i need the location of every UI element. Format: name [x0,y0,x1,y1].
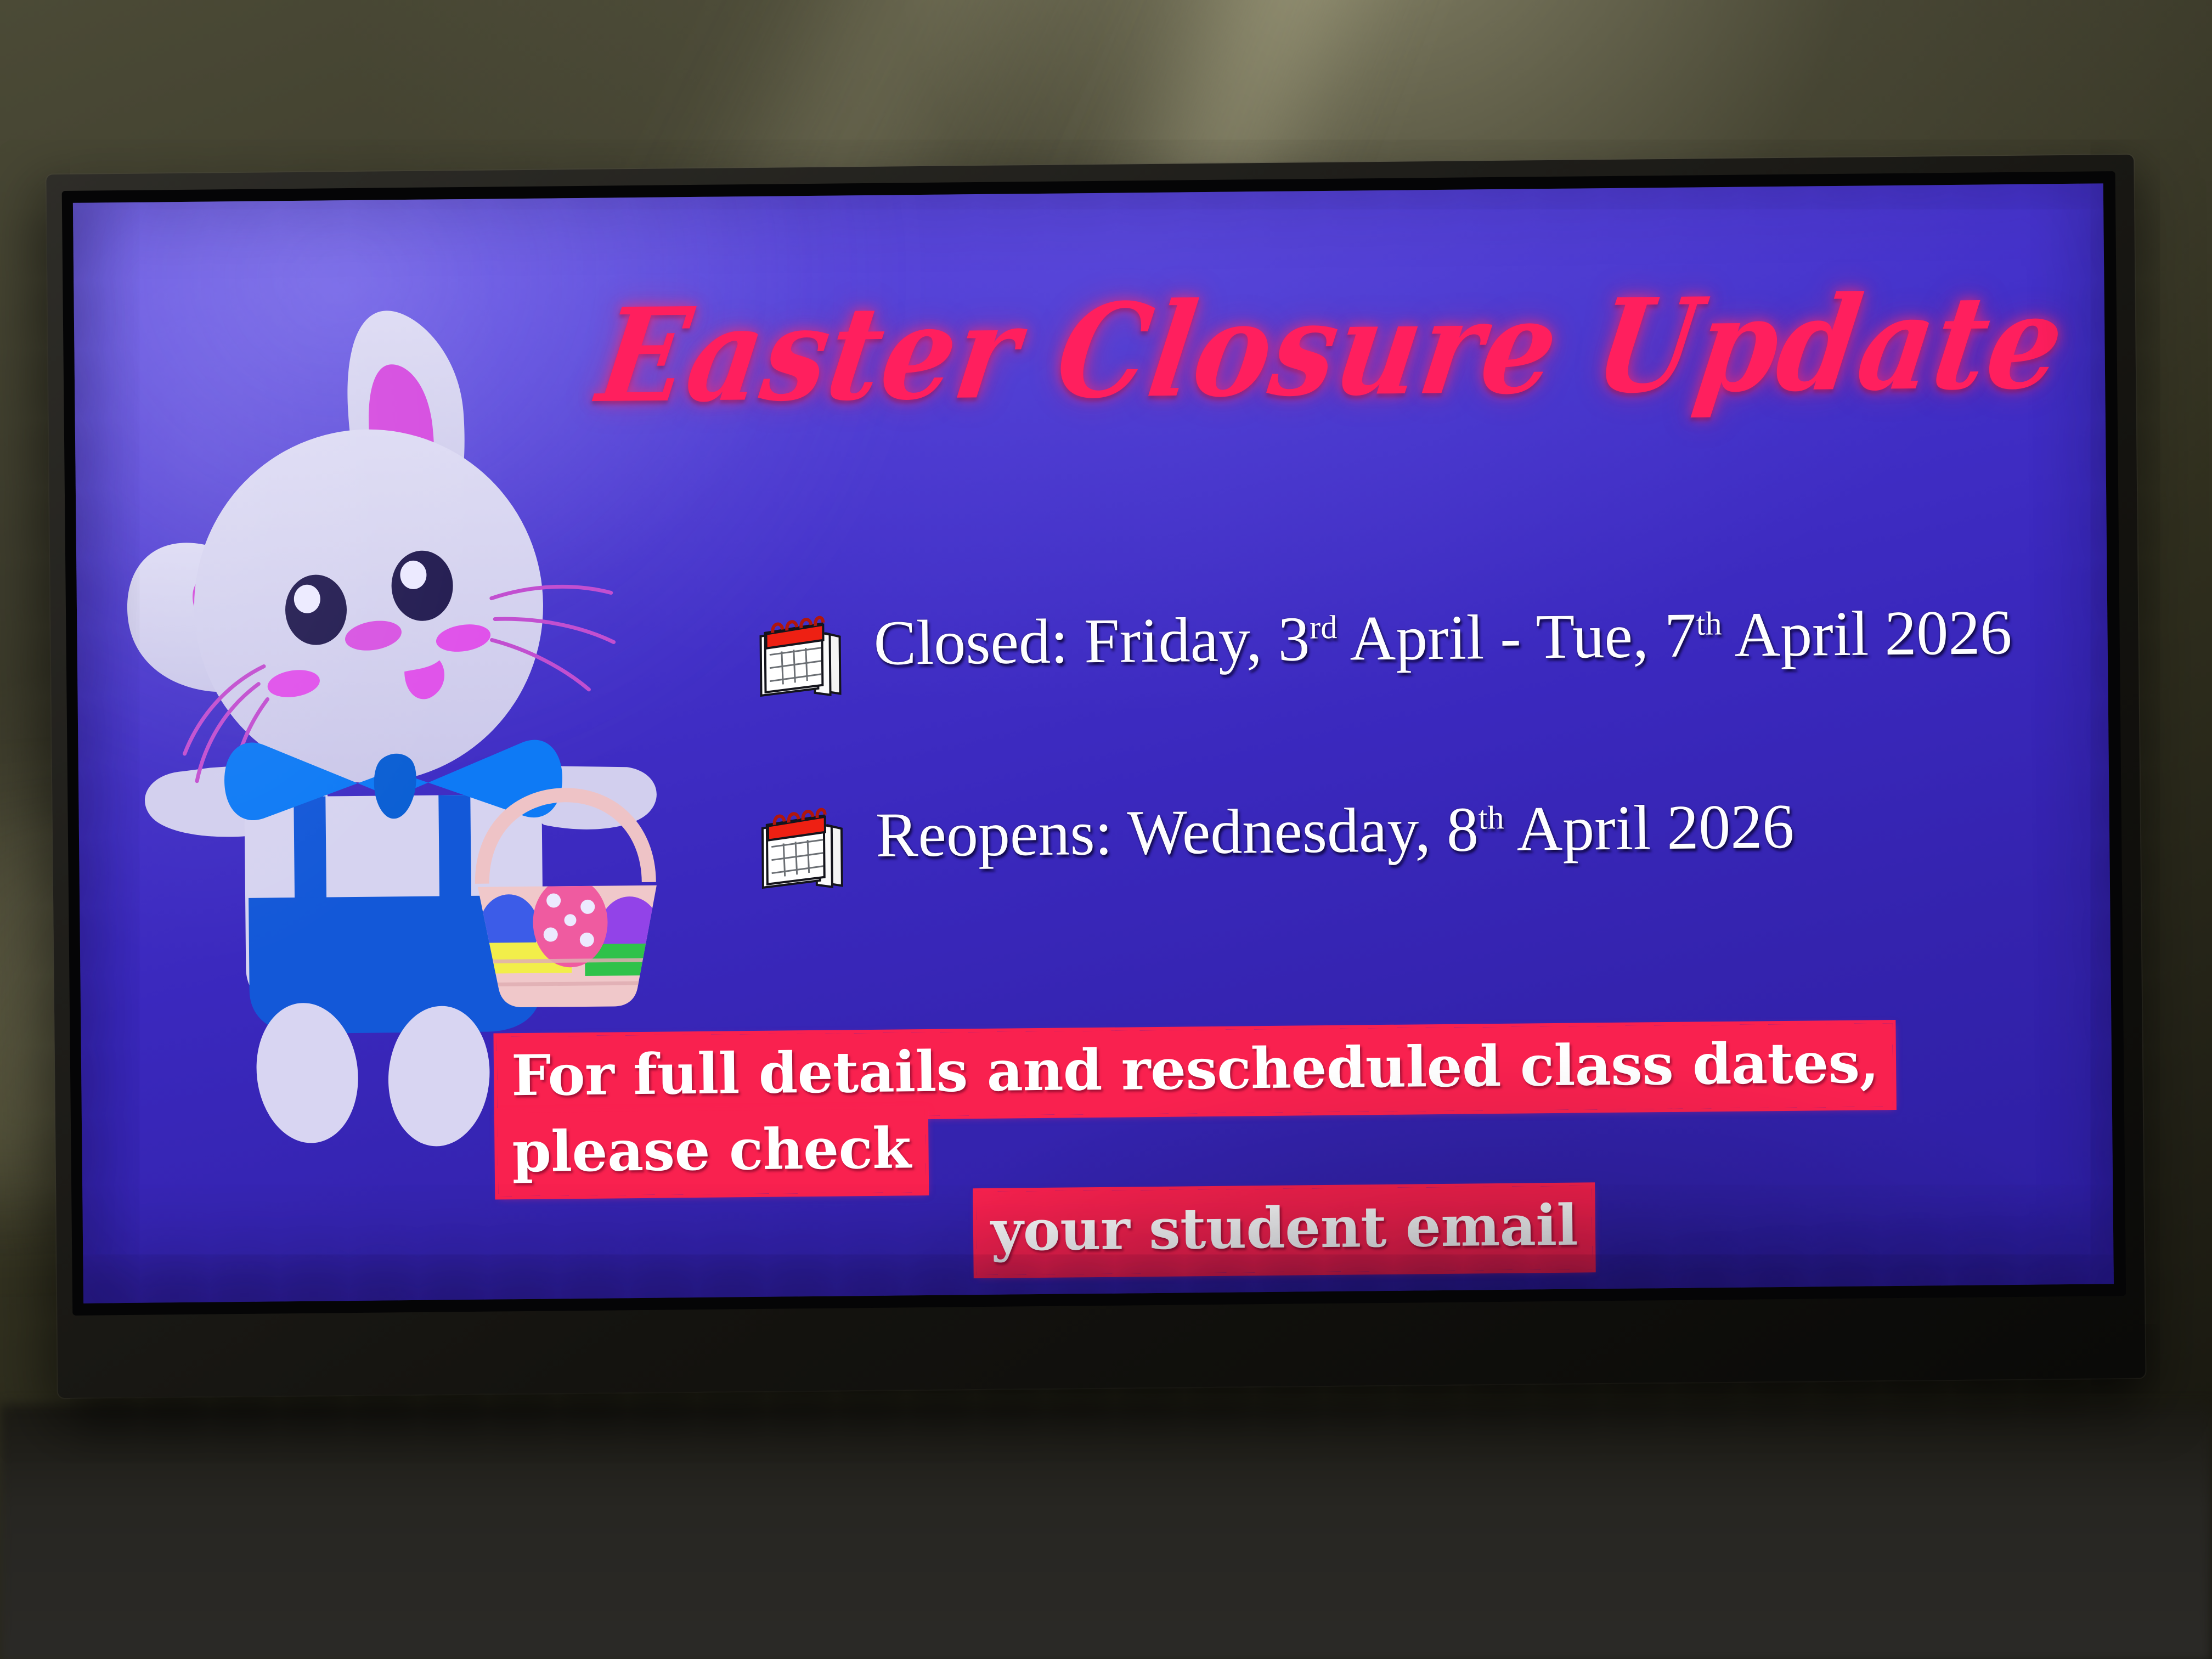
page-title: Easter Closure Update [591,280,1807,421]
bullet-reopen-date: Reopens: Wednesday, 8th April 2026 [759,786,2093,893]
tv-screen: Easter Closure Update [73,183,2114,1303]
presentation-slide: Easter Closure Update [73,183,2114,1303]
banner-line: your student email [488,1183,2080,1274]
wall-mounted-television: Easter Closure Update [46,155,2145,1398]
banner-line-text: your student email [976,1186,1592,1276]
banner-line-text: For full details and rescheduled class d… [497,1023,1894,1196]
student-email-banner: For full details and rescheduled class d… [487,1023,2080,1274]
bullet-text: Reopens: Wednesday, 8th April 2026 [875,789,1795,874]
bullet-text: Closed: Friday, 3rd April - Tue, 7th Apr… [873,595,2012,682]
banner-line: For full details and rescheduled class d… [487,1023,2080,1190]
calendar-icon [757,611,846,701]
bullet-closed-dates: Closed: Friday, 3rd April - Tue, 7th Apr… [757,594,2091,701]
wall-lower-section [0,1404,2212,1659]
calendar-icon [759,803,848,893]
